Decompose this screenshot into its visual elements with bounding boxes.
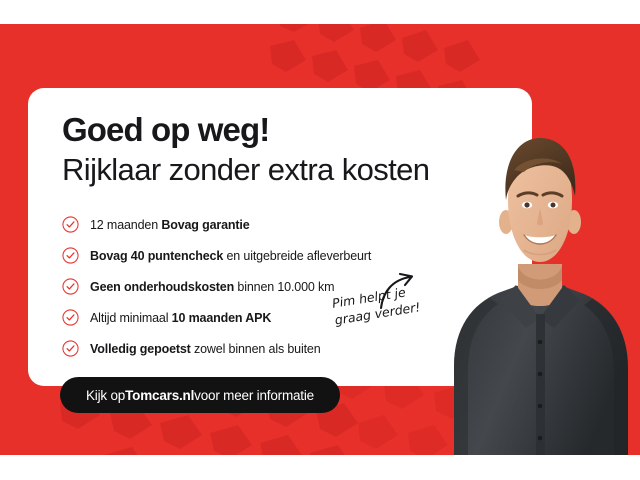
feature-bold: Bovag garantie (161, 218, 249, 232)
feature-suffix: en uitgebreide afleverbeurt (223, 249, 371, 263)
feature-bold: Volledig gepoetst (90, 342, 191, 356)
more-info-button[interactable]: Kijk op Tomcars.nl voor meer informatie (60, 377, 340, 413)
cta-prefix: Kijk op (86, 388, 125, 403)
feature-text: Bovag 40 puntencheck en uitgebreide afle… (90, 249, 371, 263)
feature-suffix: binnen 10.000 km (234, 280, 334, 294)
check-circle-icon (62, 216, 79, 233)
check-circle-icon (62, 309, 79, 326)
check-circle-icon (62, 247, 79, 264)
cta-brand: Tomcars.nl (125, 388, 194, 403)
feature-prefix: Altijd minimaal (90, 311, 172, 325)
person-photo (438, 104, 640, 455)
feature-bold: 10 maanden APK (172, 311, 272, 325)
check-circle-icon (62, 340, 79, 357)
feature-suffix: zowel binnen als buiten (191, 342, 321, 356)
feature-text: Volledig gepoetst zowel binnen als buite… (90, 342, 321, 356)
feature-text: 12 maanden Bovag garantie (90, 218, 250, 232)
check-circle-icon (62, 278, 79, 295)
curved-arrow-icon (376, 272, 422, 310)
feature-bold: Bovag 40 puntencheck (90, 249, 223, 263)
feature-text: Altijd minimaal 10 maanden APK (90, 311, 271, 325)
cta-suffix: voor meer informatie (194, 388, 314, 403)
promo-banner: Goed op weg! Rijklaar zonder extra koste… (0, 0, 640, 480)
feature-prefix: 12 maanden (90, 218, 161, 232)
feature-text: Geen onderhoudskosten binnen 10.000 km (90, 280, 334, 294)
feature-bold: Geen onderhoudskosten (90, 280, 234, 294)
